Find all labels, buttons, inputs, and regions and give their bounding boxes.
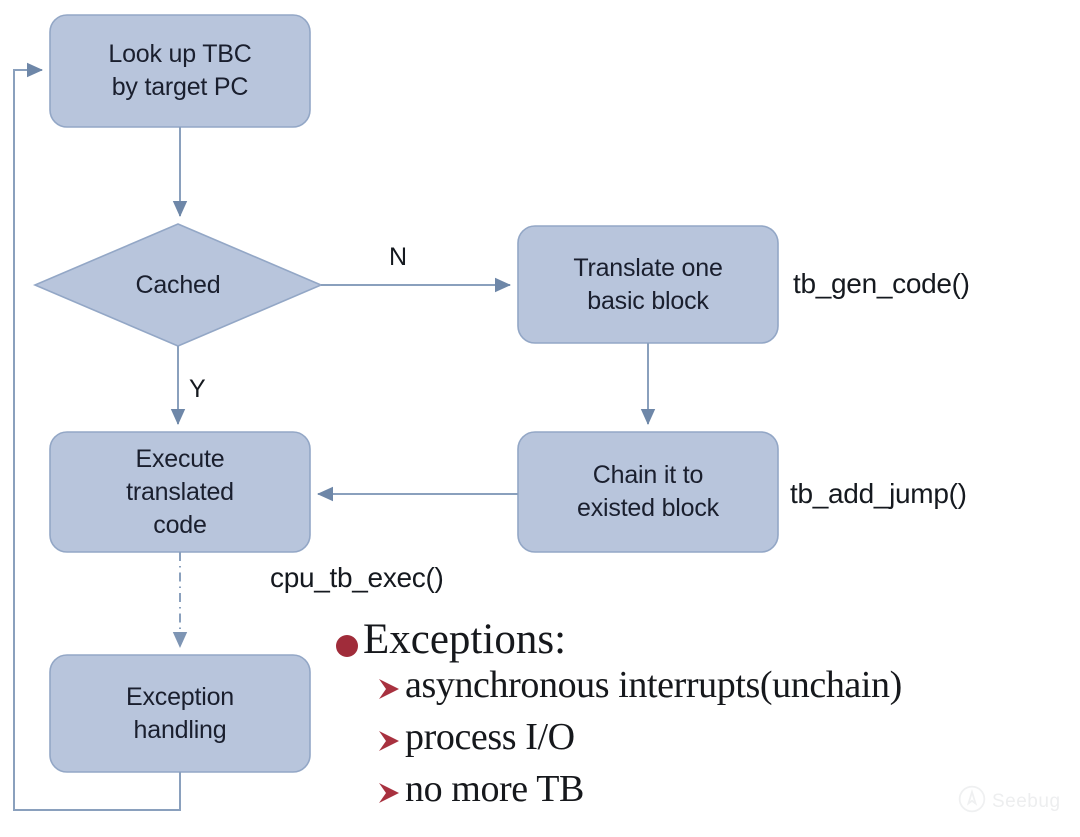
bullet-item-row: no more TB (376, 770, 1036, 822)
node-shape-execute (50, 432, 310, 552)
bullet-item-row: asynchronous interrupts(unchain) (376, 666, 1036, 718)
bullet-heading-row: Exceptions: (336, 618, 1036, 666)
bullet-item-text: asynchronous interrupts(unchain) (405, 666, 902, 704)
flowchart-canvas: Look up TBC by target PC Cached Translat… (0, 0, 1080, 837)
code-label-tb-gen-code: tb_gen_code() (793, 268, 970, 300)
node-shape-cached (35, 224, 321, 346)
watermark-text: Seebug (992, 791, 1061, 813)
arrowhead-bullet-icon (376, 676, 402, 702)
bullet-item-row: process I/O (376, 718, 1036, 770)
node-shape-exception (50, 655, 310, 772)
arrowhead-bullet-icon (376, 780, 402, 806)
seebug-logo-icon (957, 784, 987, 819)
edge-label-branch-yes: Y (189, 375, 206, 404)
node-shape-translate (518, 226, 778, 343)
code-label-cpu-tb-exec: cpu_tb_exec() (270, 562, 444, 594)
exceptions-bullet-list: Exceptions: asynchronous interrupts(unch… (336, 618, 1036, 822)
bullet-dot-icon (336, 635, 358, 657)
node-shape-chain (518, 432, 778, 552)
node-shape-lookup (50, 15, 310, 127)
bullet-item-text: no more TB (405, 770, 584, 808)
bullet-item-text: process I/O (405, 718, 575, 756)
watermark: Seebug (957, 784, 1061, 819)
code-label-tb-add-jump: tb_add_jump() (790, 478, 967, 510)
arrowhead-bullet-icon (376, 728, 402, 754)
bullet-heading-text: Exceptions: (363, 618, 566, 661)
edge-label-branch-no: N (389, 243, 407, 272)
